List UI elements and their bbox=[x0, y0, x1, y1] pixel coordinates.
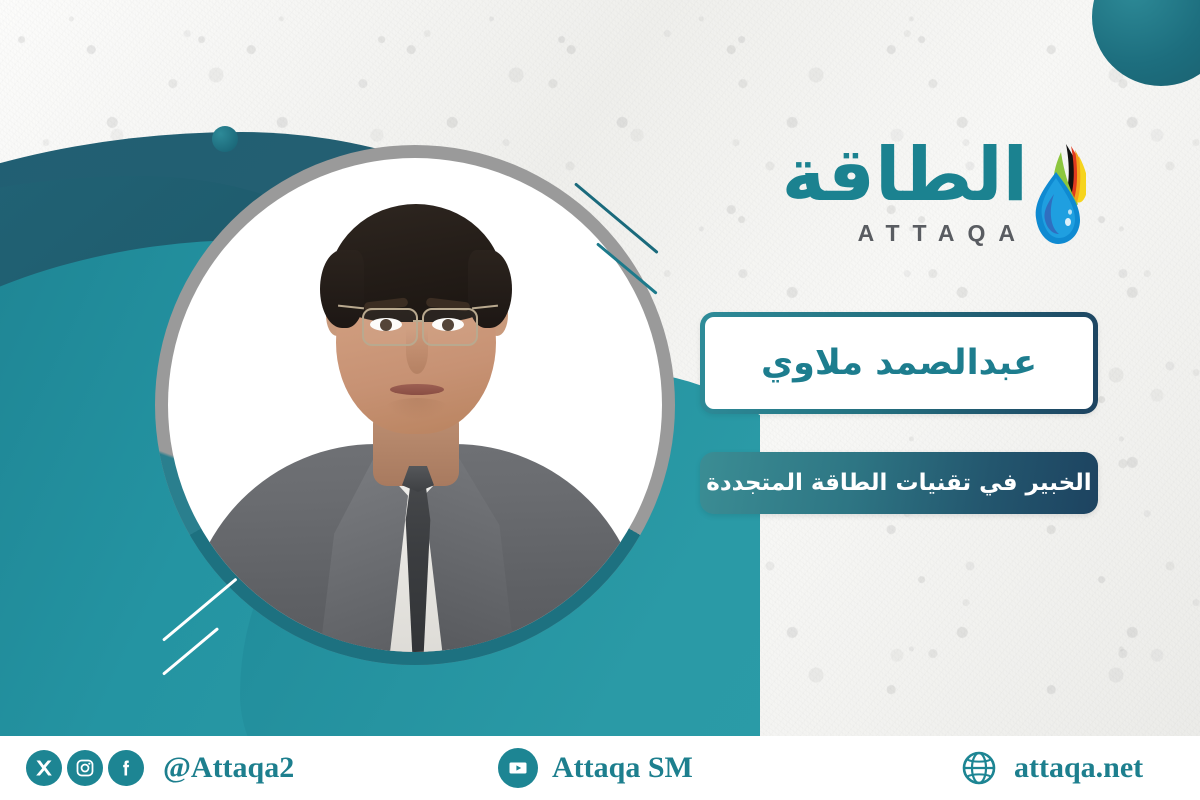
attaqa-logo: الطاقة ATTAQA bbox=[760, 140, 1080, 262]
instagram-icon[interactable] bbox=[67, 750, 103, 786]
logo-arabic-wordmark: الطاقة bbox=[782, 138, 1028, 212]
photo-glasses-bridge bbox=[413, 320, 424, 322]
website-label[interactable]: attaqa.net bbox=[1014, 751, 1143, 785]
logo-latin-wordmark: ATTAQA bbox=[858, 220, 1028, 247]
social-handle[interactable]: @Attaqa2 bbox=[163, 751, 294, 785]
speaker-card: الطاقة ATTAQA عبدالصمد ملاوي الخبير في ت… bbox=[0, 0, 1200, 800]
x-twitter-icon[interactable] bbox=[26, 750, 62, 786]
footer-social-group[interactable]: @Attaqa2 bbox=[26, 736, 294, 800]
photo-hair-side-left bbox=[320, 250, 364, 328]
footer-youtube-group[interactable]: Attaqa SM bbox=[498, 736, 693, 800]
speaker-name-box: عبدالصمد ملاوي bbox=[700, 312, 1098, 414]
portrait-photo bbox=[168, 158, 662, 652]
photo-mouth bbox=[390, 384, 444, 395]
photo-chin-shadow bbox=[384, 398, 450, 420]
speaker-name: عبدالصمد ملاوي bbox=[761, 343, 1037, 383]
footer-bar: @Attaqa2 Attaqa SM attaqa bbox=[0, 736, 1200, 800]
speaker-title: الخبير في تقنيات الطاقة المتجددة bbox=[706, 470, 1091, 496]
portrait-photo-illustration bbox=[168, 158, 662, 652]
teal-dot-decoration bbox=[212, 126, 238, 152]
globe-icon[interactable] bbox=[958, 747, 1000, 789]
youtube-icon[interactable] bbox=[498, 748, 538, 788]
youtube-label[interactable]: Attaqa SM bbox=[552, 751, 693, 785]
footer-website-group[interactable]: attaqa.net bbox=[958, 736, 1143, 800]
speaker-title-bar: الخبير في تقنيات الطاقة المتجددة bbox=[700, 452, 1098, 514]
energy-droplet-flame-icon bbox=[1030, 142, 1086, 250]
photo-glasses-lens-left bbox=[362, 308, 418, 346]
photo-glasses-lens-right bbox=[422, 308, 478, 346]
facebook-icon[interactable] bbox=[108, 750, 144, 786]
